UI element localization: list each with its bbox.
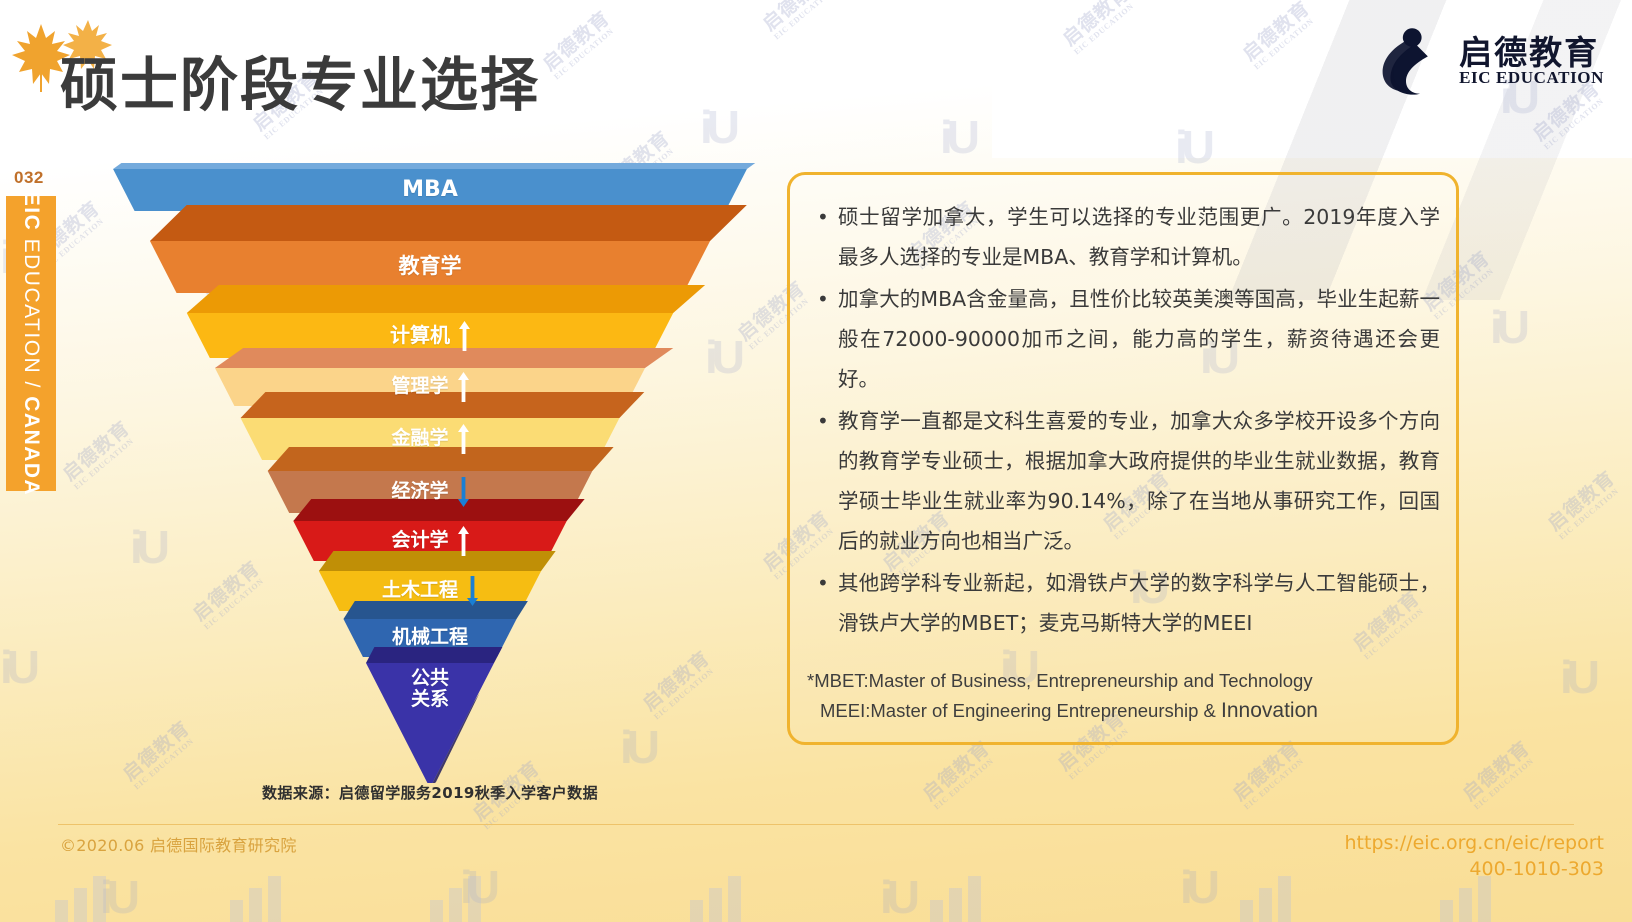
funnel-band-label: 管理学 [100,367,760,407]
bullet-item: 加拿大的MBA含金量高，且性价比较英美澳等国高，毕业生起薪一般在72000-90… [806,279,1440,399]
funnel-band-label-text: 计算机 [390,324,450,346]
funnel-band-label-text: 土木工程 [382,580,458,601]
watermark-cn: 启德教育 [920,739,994,806]
watermark-en: EIC EDUCATION [773,0,840,42]
eic-logo-mark-icon [1367,22,1445,100]
funnel-band-label-text: 公共 关系 [411,668,449,711]
footer-divider [58,824,1574,825]
bullet-item: 教育学一直都是文科生喜爱的专业，加拿大众多学校开设多个方向的教育学专业硕士，根据… [806,401,1440,561]
watermark-cn: 启德教育 [1545,469,1619,536]
brand-name-cn: 启德教育 [1459,36,1604,70]
watermark-mark-icon: iU [1560,650,1594,704]
watermark-mark-icon: iU [1490,300,1524,354]
watermark-text: 启德教育EIC EDUCATION [1545,469,1625,542]
funnel-band-label-text: 会计学 [391,530,448,551]
watermark-en: EIC EDUCATION [1473,754,1540,812]
watermark-bars-icon [930,876,981,922]
watermark-text: 启德教育EIC EDUCATION [760,0,840,42]
funnel-band-label: 经济学 [100,472,760,512]
watermark-en: EIC EDUCATION [933,754,1000,812]
funnel-band-label: MBA [100,170,760,210]
bullet-list: 硕士留学加拿大，学生可以选择的专业范围更广。2019年度入学最多人选择的专业是M… [806,197,1440,645]
funnel-band-label-text: 经济学 [391,481,448,502]
panel-footnote: *MBET:Master of Business, Entrepreneursh… [807,666,1442,726]
watermark-text: 启德教育EIC EDUCATION [540,9,620,82]
section-rail-label: EIC EDUCATION / CANADA [19,191,43,495]
funnel-band-label-text: 管理学 [391,376,448,397]
footer-phone: 400-1010-303 [1345,856,1605,882]
funnel-band-label: 机械工程 [100,618,760,658]
brand-name-en: EIC EDUCATION [1459,69,1604,86]
watermark-cn: 启德教育 [540,9,614,76]
funnel-band-label-text: 机械工程 [392,627,468,648]
funnel-band-label: 会计学 [100,521,760,561]
rail-label-canada: CANADA [20,396,43,496]
brand-logo-text: 启德教育 EIC EDUCATION [1459,36,1604,87]
footer-copyright: ©2020.06 启德国际教育研究院 [60,832,297,856]
funnel-band-top-face [187,285,705,313]
trend-down-arrow-icon [467,576,478,606]
trend-up-arrow-icon [459,321,470,351]
watermark-en: EIC EDUCATION [1243,754,1310,812]
funnel-band-label-text: MBA [402,178,458,203]
footnote-line-2-suffix: Innovation [1221,699,1318,722]
funnel-band-label-text: 金融学 [391,428,448,449]
brand-logo: 启德教育 EIC EDUCATION [1367,22,1604,100]
funnel-band-label-text: 教育学 [399,255,462,279]
funnel-band-label: 教育学 [100,247,760,287]
funnel-band-label: 公共 关系 [100,665,760,713]
watermark-mark-icon: iU [940,110,974,164]
watermark-text: 启德教育EIC EDUCATION [1460,739,1540,812]
funnel-band-top-face [150,205,747,241]
watermark-bars-icon [230,876,281,922]
footer-url[interactable]: https://eic.org.cn/eic/report [1345,830,1605,856]
watermark-mark-icon: iU [1180,860,1214,914]
watermark-bars-icon [690,876,741,922]
page-number: 032 [14,168,44,188]
footnote-line-2-prefix: MEEI:Master of Engineering Entrepreneurs… [820,700,1221,721]
watermark-bars-icon [1440,876,1491,922]
section-rail-tab: EIC EDUCATION / CANADA [6,196,56,491]
trend-down-arrow-icon [458,477,469,507]
bullet-item: 硕士留学加拿大，学生可以选择的专业范围更广。2019年度入学最多人选择的专业是M… [806,197,1440,277]
funnel-apex-front [386,703,473,783]
watermark-en: EIC EDUCATION [1558,484,1625,542]
watermark-bars-icon [1240,876,1291,922]
watermark-text: 启德教育EIC EDUCATION [1230,739,1310,812]
rail-label-education: EDUCATION / [20,238,43,396]
trend-up-arrow-icon [458,424,469,454]
funnel-band-label: 计算机 [100,316,760,356]
watermark-mark-icon: iU [700,100,734,154]
watermark-text: 启德教育EIC EDUCATION [920,739,1000,812]
chart-source-note: 数据来源：启德留学服务2019秋季入学客户数据 [100,782,760,803]
info-panel: 硕士留学加拿大，学生可以选择的专业范围更广。2019年度入学最多人选择的专业是M… [787,172,1459,745]
bullet-item: 其他跨学科专业新起，如滑铁卢大学的数字科学与人工智能硕士，滑铁卢大学的MBET；… [806,563,1440,643]
slide-canvas: 启德教育EIC EDUCATION启德教育EIC EDUCATION启德教育EI… [0,0,1632,922]
funnel-band-top-face [113,163,760,169]
footnote-line-2: MEEI:Master of Engineering Entrepreneurs… [807,696,1442,726]
funnel-chart: MBA教育学计算机管理学金融学经济学会计学土木工程机械工程公共 关系 [100,163,760,783]
trend-up-arrow-icon [458,372,469,402]
footer-contact: https://eic.org.cn/eic/report 400-1010-3… [1345,830,1605,882]
rail-label-eic: EIC [20,191,43,238]
watermark-mark-icon: iU [460,860,494,914]
trend-up-arrow-icon [458,526,469,556]
funnel-band-label: 土木工程 [100,571,760,611]
funnel-band-label: 金融学 [100,419,760,459]
watermark-mark-icon: iU [0,640,34,694]
watermark-bars-icon [55,876,106,922]
footnote-line-1: *MBET:Master of Business, Entrepreneursh… [807,666,1442,696]
watermark-mark-icon: iU [100,870,134,922]
watermark-cn: 启德教育 [1230,739,1304,806]
watermark-en: EIC EDUCATION [553,24,620,82]
watermark-cn: 启德教育 [1460,739,1534,806]
watermark-cn: 启德教育 [760,0,834,35]
page-title: 硕士阶段专业选择 [60,38,540,122]
watermark-mark-icon: iU [880,870,914,922]
watermark-bars-icon [430,876,481,922]
